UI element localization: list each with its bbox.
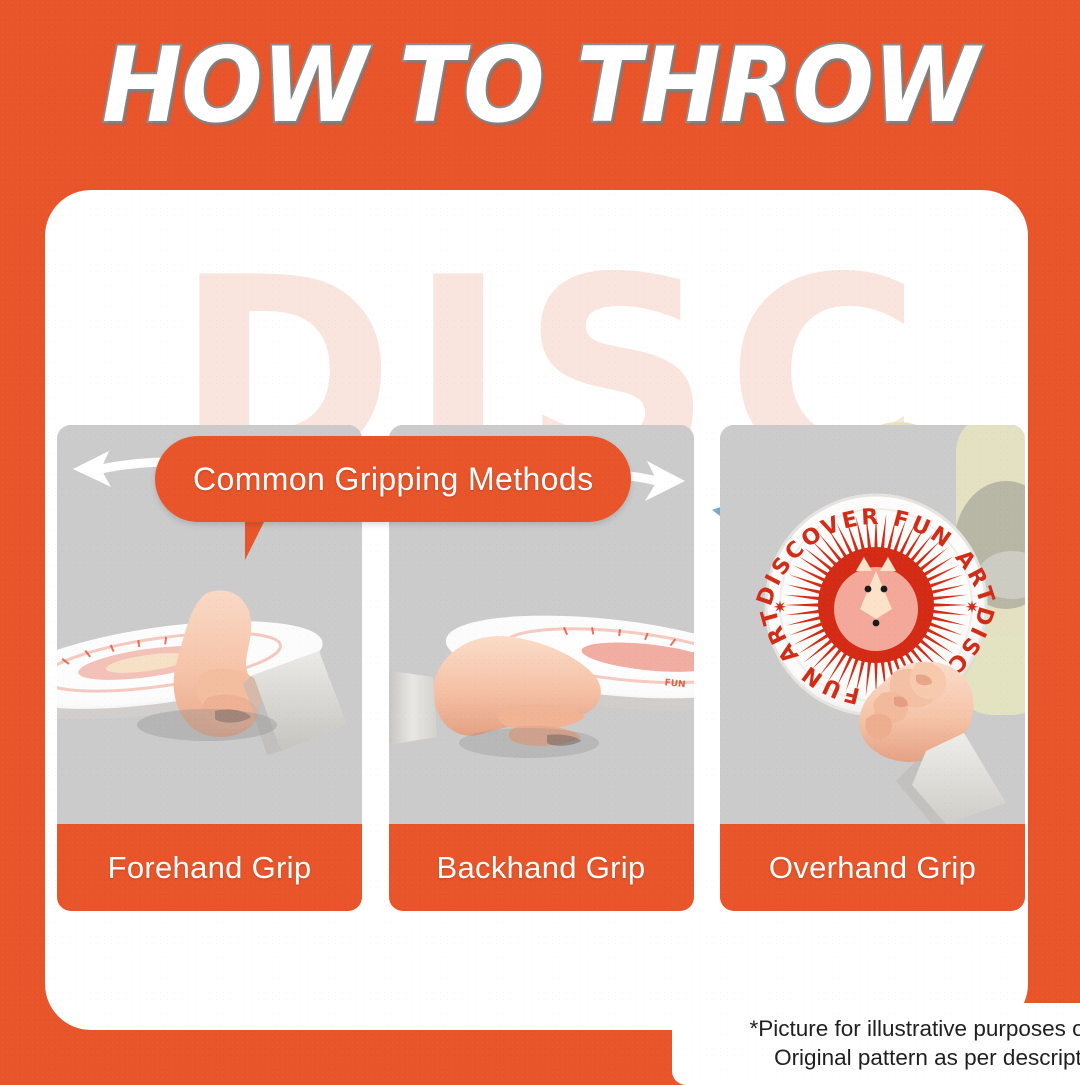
grip-label-overhand: Overhand Grip	[720, 824, 1025, 911]
caption-line-2: Original pattern as per description.	[774, 1044, 1080, 1073]
caption-line-1: *Picture for illustrative purposes only.	[750, 1015, 1080, 1044]
grip-label-forehand: Forehand Grip	[57, 824, 362, 911]
page-title-container: HOW TO THROW	[0, 34, 1080, 139]
content-card: DISC	[45, 190, 1028, 1030]
grip-panel-overhand[interactable]: ✷ ✷ DISCOVER FUN ART DISCOVER FUN ART	[720, 425, 1025, 911]
speech-bubble: Common Gripping Methods	[155, 436, 631, 522]
grip-photo-overhand: ✷ ✷ DISCOVER FUN ART DISCOVER FUN ART	[720, 425, 1025, 824]
speech-bubble-label: Common Gripping Methods	[193, 461, 593, 498]
grip-label-backhand: Backhand Grip	[389, 824, 694, 911]
speech-bubble-tail	[245, 520, 285, 560]
disclaimer-caption: *Picture for illustrative purposes only.…	[672, 1003, 1080, 1085]
page-title: HOW TO THROW	[102, 34, 978, 139]
overhand-illustration: ✷ ✷ DISCOVER FUN ART DISCOVER FUN ART	[720, 425, 1025, 824]
